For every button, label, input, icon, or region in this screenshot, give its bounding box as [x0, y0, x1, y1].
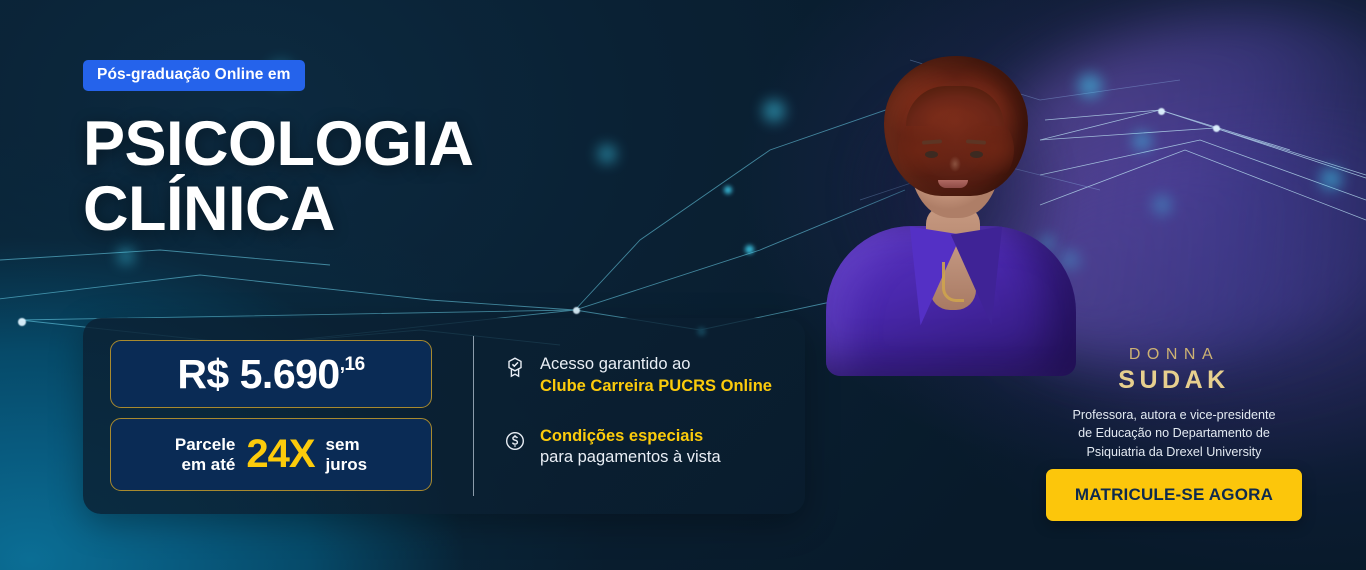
benefit-item: Acesso garantido ao Clube Carreira PUCRS… — [503, 354, 793, 398]
dollar-circle-icon — [503, 428, 527, 454]
speaker-description-line-2: de Educação no Departamento de — [1046, 424, 1302, 442]
benefit-text: Condições especiais para pagamentos à vi… — [540, 426, 721, 470]
installment-prefix-line-1: Parcele — [175, 435, 236, 455]
network-node-glow — [1152, 195, 1172, 215]
speaker-description: Professora, autora e vice-presidente de … — [1046, 406, 1302, 461]
network-node — [18, 318, 26, 326]
network-node-glow — [1320, 168, 1342, 190]
network-node — [1213, 125, 1220, 132]
portrait-eye-right — [970, 151, 983, 158]
benefit-line-1: Condições especiais — [540, 426, 721, 448]
course-type-badge: Pós-graduação Online em — [83, 60, 305, 91]
installment-prefix-line-2: em até — [175, 455, 236, 475]
network-node — [573, 307, 580, 314]
price-value: R$ 5.690 ,16 — [177, 351, 364, 398]
benefits-list: Acesso garantido ao Clube Carreira PUCRS… — [503, 354, 793, 497]
benefit-item: Condições especiais para pagamentos à vi… — [503, 426, 793, 470]
benefit-line-1: Acesso garantido ao — [540, 354, 772, 376]
headline-line-1: PSICOLOGIA — [83, 112, 474, 177]
installment-prefix: Parcele em até — [175, 435, 236, 474]
benefit-text: Acesso garantido ao Clube Carreira PUCRS… — [540, 354, 772, 398]
network-node-glow — [598, 145, 616, 163]
speaker-credit: DONNA SUDAK Professora, autora e vice-pr… — [1046, 346, 1302, 461]
installment-count: 24X — [246, 432, 314, 477]
speaker-description-line-3: Psiquiatria da Drexel University — [1046, 443, 1302, 461]
speaker-last-name: SUDAK — [1046, 366, 1302, 395]
promo-banner: Pós-graduação Online em PSICOLOGIA CLÍNI… — [0, 0, 1366, 570]
installment-suffix-line-2: juros — [326, 455, 368, 475]
benefit-line-2: para pagamentos à vista — [540, 447, 721, 469]
card-divider — [473, 336, 474, 496]
portrait-necklace — [942, 262, 964, 302]
badge-check-icon — [503, 356, 527, 382]
installment-suffix-line-1: sem — [326, 435, 368, 455]
installment-suffix: sem juros — [326, 435, 368, 474]
network-node-glow — [1133, 132, 1151, 150]
price-cents: ,16 — [340, 354, 365, 376]
price-amount: R$ 5.690 — [177, 351, 339, 398]
offer-card: R$ 5.690 ,16 Parcele em até 24X sem juro… — [83, 318, 805, 514]
portrait-mouth — [938, 180, 968, 188]
headline-line-2: CLÍNICA — [83, 177, 474, 242]
portrait-nose — [949, 156, 961, 172]
speaker-portrait-image — [818, 30, 1080, 340]
benefit-line-2: Clube Carreira PUCRS Online — [540, 376, 772, 398]
installment-box: Parcele em até 24X sem juros — [110, 418, 432, 491]
portrait-eye-left — [925, 151, 938, 158]
page-title: PSICOLOGIA CLÍNICA — [83, 112, 474, 242]
network-node — [745, 245, 754, 254]
portrait-hair — [884, 56, 1028, 196]
price-box: R$ 5.690 ,16 — [110, 340, 432, 408]
network-node — [1158, 108, 1165, 115]
speaker-description-line-1: Professora, autora e vice-presidente — [1046, 406, 1302, 424]
network-node-glow — [118, 248, 134, 264]
network-node — [724, 186, 732, 194]
enroll-now-button[interactable]: MATRICULE-SE AGORA — [1046, 469, 1302, 521]
speaker-first-name: DONNA — [1046, 346, 1302, 364]
network-node-glow — [763, 100, 785, 122]
